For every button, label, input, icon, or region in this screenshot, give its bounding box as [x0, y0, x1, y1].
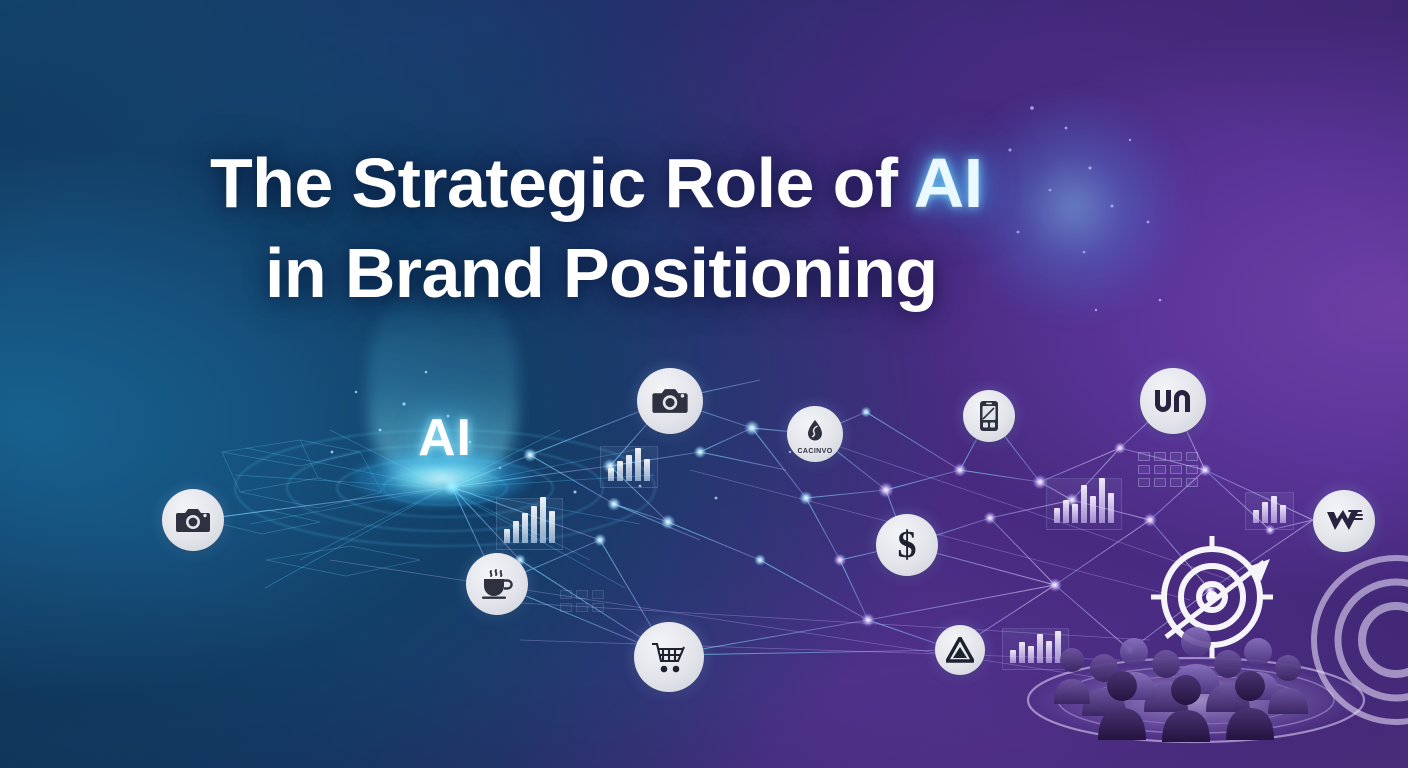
- delta-icon-glyph: [946, 637, 974, 663]
- coffee-cup-icon-glyph: [479, 567, 515, 601]
- svg-text:$: $: [898, 524, 917, 566]
- droplet-brand-caption: CACINVO: [787, 448, 843, 455]
- data-grid-decor-2: [560, 590, 604, 612]
- bar-chart-far: [1245, 492, 1294, 530]
- camera-icon-glyph-2: [652, 387, 688, 415]
- coffee-cup-icon[interactable]: [466, 553, 528, 615]
- mobile-device-icon-glyph: [978, 400, 1000, 432]
- camera-icon-2[interactable]: [637, 368, 703, 434]
- camera-icon-glyph: [176, 507, 210, 534]
- un-monogram-glyph: [1153, 388, 1193, 414]
- banner-canvas: AI: [0, 0, 1408, 768]
- bar-chart-mid: [600, 446, 658, 488]
- shopping-cart-icon-glyph: [649, 639, 689, 675]
- shopping-cart-icon[interactable]: [634, 622, 704, 692]
- bar-chart-right: [1046, 478, 1122, 530]
- w-brand-icon[interactable]: [1313, 490, 1375, 552]
- droplet-icon-glyph: [806, 419, 824, 443]
- un-monogram-icon[interactable]: [1140, 368, 1206, 434]
- droplet-brand-icon[interactable]: CACINVO: [787, 406, 843, 462]
- delta-brand-icon[interactable]: [935, 625, 985, 675]
- dollar-sign-icon[interactable]: $: [876, 514, 938, 576]
- dollar-sign-icon-glyph: $: [892, 524, 922, 566]
- camera-icon[interactable]: [162, 489, 224, 551]
- data-grid-decor: [1138, 452, 1198, 487]
- mobile-device-icon[interactable]: [963, 390, 1015, 442]
- ai-hub: AI: [300, 300, 590, 590]
- hub-label: AI: [300, 408, 590, 468]
- w-brand-glyph: [1325, 507, 1363, 535]
- bar-chart-lower: [1002, 628, 1069, 670]
